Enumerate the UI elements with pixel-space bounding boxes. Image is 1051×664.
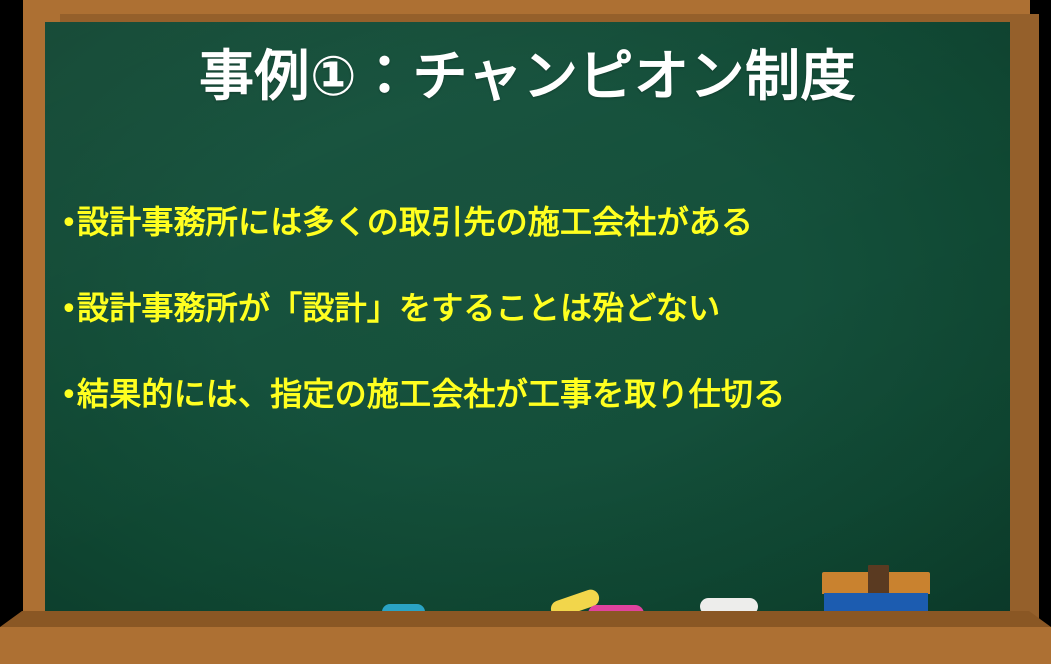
chalk-tray xyxy=(0,611,1051,664)
chalkboard-surface: 事例①：チャンピオン制度 • 設計事務所には多くの取引先の施工会社がある • 設… xyxy=(45,22,1010,612)
bullet-item-2-text: 設計事務所が「設計」をすることは殆どない xyxy=(77,289,990,327)
bullet-item-3: • 結果的には、指定の施工会社が工事を取り仕切る xyxy=(60,375,990,461)
bullet-marker-icon: • xyxy=(60,295,77,325)
bullet-item-3-text: 結果的には、指定の施工会社が工事を取り仕切る xyxy=(77,375,990,413)
bullet-item-1: • 設計事務所には多くの取引先の施工会社がある xyxy=(60,203,990,289)
bullet-item-2: • 設計事務所が「設計」をすることは殆どない xyxy=(60,289,990,375)
slide-title: 事例①：チャンピオン制度 xyxy=(45,45,1010,108)
slide-canvas: 事例①：チャンピオン制度 • 設計事務所には多くの取引先の施工会社がある • 設… xyxy=(0,0,1051,664)
chalk-tray-face xyxy=(0,627,1051,664)
bullet-list: • 設計事務所には多くの取引先の施工会社がある • 設計事務所が「設計」をするこ… xyxy=(60,203,990,461)
chalk-tray-top-edge xyxy=(0,611,1051,627)
bullet-marker-icon: • xyxy=(60,209,77,239)
eraser-handle-tab xyxy=(868,565,889,594)
bullet-item-1-text: 設計事務所には多くの取引先の施工会社がある xyxy=(77,203,990,241)
bullet-marker-icon: • xyxy=(60,381,77,411)
